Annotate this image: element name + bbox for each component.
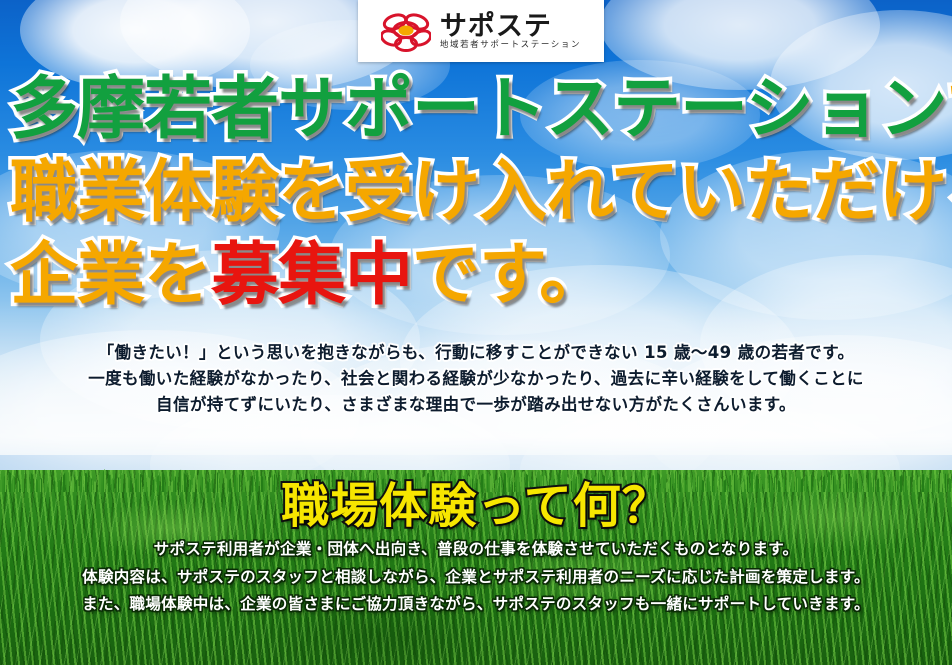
logo-subtitle: 地域若者サポートステーション: [440, 41, 581, 50]
saposute-logo: サポステ 地域若者サポートステーション: [358, 0, 604, 62]
section-heading-block: 職場体験って何？: [0, 466, 952, 536]
lede-paragraph: 「働きたい！」という思いを抱きながらも、行動に移すことができない 15 歳～49…: [0, 340, 952, 418]
headline-line-2-gold: 職業体験を受け入れていただける: [10, 153, 952, 232]
headline-line-3-gold-a: 企業を: [10, 236, 211, 315]
logo-title: サポステ: [440, 13, 581, 40]
section-heading: 職場体験って何？: [281, 466, 671, 536]
section-body-line: サポステ利用者が企業・団体へ出向き、普段の仕事を体験させていただくものとなります…: [0, 536, 952, 564]
headline-line-1: 多摩若者サポートステーションでは、: [0, 76, 952, 144]
headline-block: 多摩若者サポートステーションでは、 職業体験を受け入れていただける 企業を募集中…: [0, 76, 952, 310]
headline-line-3-gold-b: です。: [412, 236, 606, 315]
poster-canvas: サポステ 地域若者サポートステーション 多摩若者サポートステーションでは、 職業…: [0, 0, 952, 665]
section-body-line: また、職場体験中は、企業の皆さまにご協力頂きながら、サポステのスタッフも一緒にサ…: [0, 591, 952, 619]
logo-wordmark: サポステ 地域若者サポートステーション: [440, 13, 581, 50]
headline-line-3: 企業を募集中です。: [0, 242, 952, 310]
headline-line-1-green: 多摩若者サポートステーション: [10, 70, 947, 149]
headline-line-2: 職業体験を受け入れていただける: [0, 159, 952, 227]
lede-line: 「働きたい！」という思いを抱きながらも、行動に移すことができない 15 歳～49…: [0, 340, 952, 366]
saposute-plum-blossom-mark: [381, 10, 431, 52]
headline-line-1-gold: では、: [947, 70, 952, 149]
headline-line-3-red: 募集中: [211, 236, 412, 315]
section-body-paragraph: サポステ利用者が企業・団体へ出向き、普段の仕事を体験させていただくものとなります…: [0, 536, 952, 619]
lede-line: 自信が持てずにいたり、さまざまな理由で一歩が踏み出せない方がたくさんいます。: [0, 392, 952, 418]
section-body-line: 体験内容は、サポステのスタッフと相談しながら、企業とサポステ利用者のニーズに応じ…: [0, 564, 952, 592]
lede-line: 一度も働いた経験がなかったり、社会と関わる経験が少なかったり、過去に辛い経験をし…: [0, 366, 952, 392]
